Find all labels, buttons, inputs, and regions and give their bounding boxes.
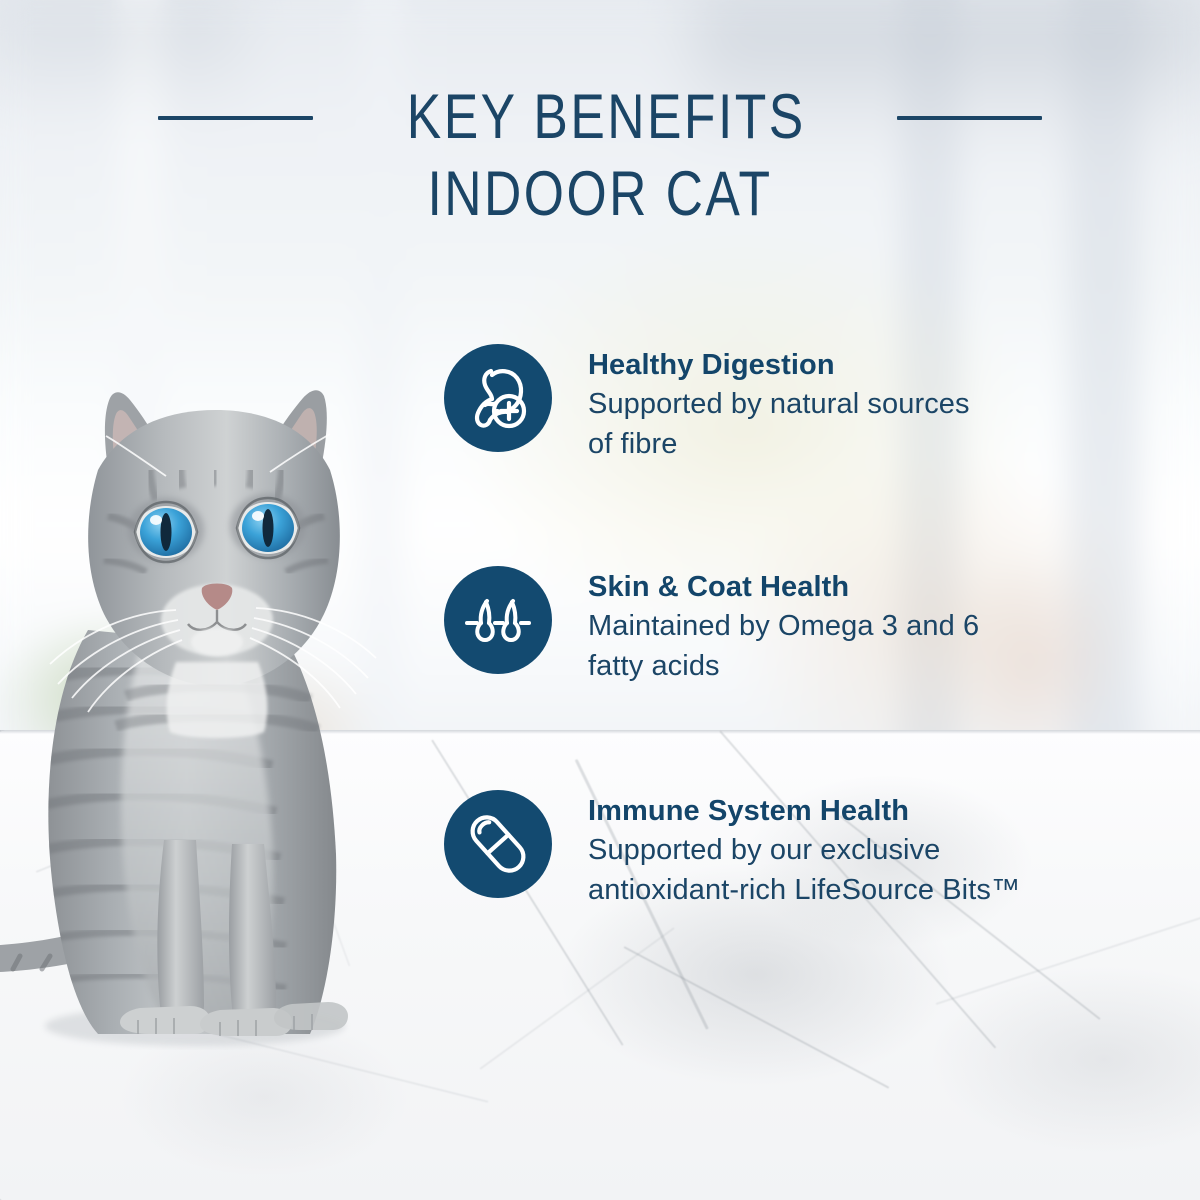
benefit-body: Maintained by Omega 3 and 6 fatty acids [588,606,979,686]
benefit-text-block: Healthy Digestion Supported by natural s… [588,344,970,464]
cat-photo [0,320,450,1080]
benefit-body-line: antioxidant-rich LifeSource Bits™ [588,870,1020,910]
benefit-body-line: Supported by our exclusive [588,830,1020,870]
benefit-item-skin-coat-health: Skin & Coat Health Maintained by Omega 3… [444,566,979,686]
benefit-body-line: of fibre [588,424,970,464]
benefit-body: Supported by our exclusive antioxidant-r… [588,830,1020,910]
hair-follicle-icon [444,566,552,674]
benefit-body-line: Maintained by Omega 3 and 6 [588,606,979,646]
benefit-heading: Healthy Digestion [588,346,970,384]
benefit-text-block: Immune System Health Supported by our ex… [588,790,1020,910]
benefit-heading: Immune System Health [588,792,1020,830]
benefit-body-line: Supported by natural sources [588,384,970,424]
page-title-line2: INDOOR CAT [108,163,1092,226]
benefit-heading: Skin & Coat Health [588,568,979,606]
benefit-text-block: Skin & Coat Health Maintained by Omega 3… [588,566,979,686]
decorative-rule-right-icon [897,116,1042,120]
decorative-rule-left-icon [158,116,313,120]
benefit-item-healthy-digestion: Healthy Digestion Supported by natural s… [444,344,970,464]
page-title-line1: KEY BENEFITS [407,86,806,149]
benefit-body-line: fatty acids [588,646,979,686]
key-benefits-poster: KEY BENEFITS INDOOR CAT Healthy Digestio… [0,0,1200,1200]
capsule-pill-icon [444,790,552,898]
stomach-plus-icon [444,344,552,452]
benefit-item-immune-system-health: Immune System Health Supported by our ex… [444,790,1020,910]
benefit-body: Supported by natural sources of fibre [588,384,970,464]
poster-header: KEY BENEFITS INDOOR CAT [0,86,1200,226]
